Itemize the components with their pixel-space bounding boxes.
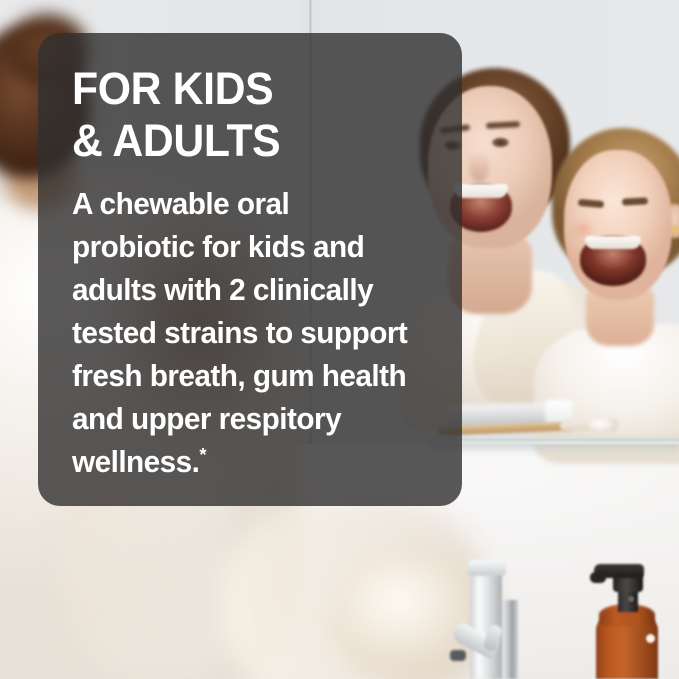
headline-line-2: & ADULTS	[72, 115, 410, 167]
body-line-6: and upper respitory	[72, 398, 419, 441]
banner-image: FOR KIDS & ADULTS A chewable oral probio…	[0, 0, 679, 679]
headline-line-1: FOR KIDS	[72, 63, 410, 115]
body-copy: A chewable oral probiotic for kids and a…	[72, 183, 419, 484]
body-last-line-text: wellness.	[72, 445, 199, 479]
headline: FOR KIDS & ADULTS	[72, 63, 410, 167]
footnote-asterisk: *	[199, 445, 206, 466]
mother-nose	[469, 152, 489, 182]
daughter-portrait	[552, 128, 679, 428]
body-line-1: A chewable oral	[72, 183, 419, 226]
body-line-4: tested strains to support	[72, 312, 419, 355]
daughter-teeth	[585, 236, 641, 249]
mother-eye-right	[491, 137, 510, 148]
body-line-3: adults with 2 clinically	[72, 269, 419, 312]
pump-screw	[628, 596, 634, 602]
daughter-eye-right	[622, 197, 648, 205]
glass-shelf	[430, 437, 679, 444]
amber-bottle-highlight	[646, 634, 655, 643]
body-line-2: probiotic for kids and	[72, 226, 419, 269]
glass-shelf-reflection	[430, 444, 679, 456]
body-line-7: wellness.*	[72, 441, 419, 484]
mother-teeth	[454, 184, 508, 198]
faucet-column	[470, 564, 502, 679]
body-line-5: fresh breath, gum health	[72, 355, 419, 398]
faucet-tip	[450, 650, 466, 661]
text-overlay-card: FOR KIDS & ADULTS A chewable oral probio…	[38, 33, 462, 506]
daughter-earring	[672, 226, 679, 233]
faucet-top	[468, 560, 506, 576]
toothbrush-head	[588, 418, 618, 432]
pump-nozzle	[590, 572, 606, 583]
